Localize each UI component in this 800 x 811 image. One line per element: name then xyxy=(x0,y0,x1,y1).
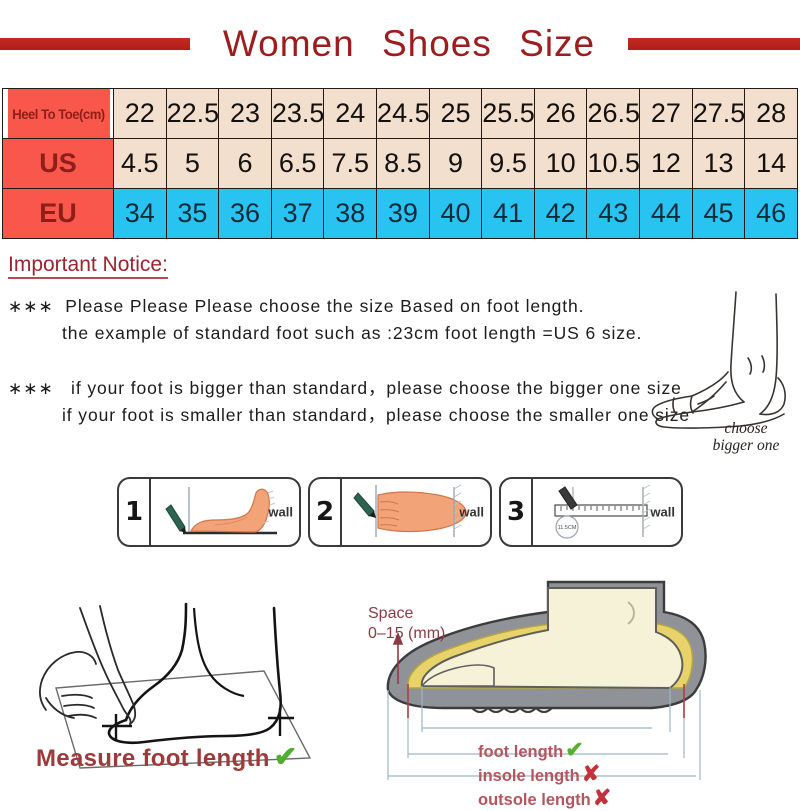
cell-cm-10: 27 xyxy=(640,89,693,139)
size-chart-table: Heel To Toe(cm) 22 22.5 23 23.5 24 24.5 … xyxy=(2,88,798,239)
cell-us-3: 6.5 xyxy=(271,139,324,189)
ruler-reading-label: 11.5CM xyxy=(558,525,577,531)
label-foot-length-text: foot length xyxy=(478,743,563,761)
notice-line-3: if your foot is bigger than standard，ple… xyxy=(71,378,682,398)
important-notice-heading: Important Notice: xyxy=(8,253,168,279)
page-title-row: Women Shoes Size xyxy=(0,18,800,70)
row-label-heel-to-toe: Heel To Toe(cm) xyxy=(6,89,109,139)
measure-foot-caption: Measure foot length✔ xyxy=(36,740,297,773)
row-label-us: US xyxy=(3,139,114,189)
cell-eu-3: 37 xyxy=(271,189,324,239)
title-word-1: Women xyxy=(223,23,355,64)
cell-cm-11: 27.5 xyxy=(692,89,745,139)
cell-us-5: 8.5 xyxy=(377,139,430,189)
cell-us-9: 10.5 xyxy=(587,139,640,189)
cell-cm-2: 23 xyxy=(219,89,272,139)
cell-eu-12: 46 xyxy=(745,189,798,239)
notice-line-1: Please Please Please choose the size Bas… xyxy=(65,296,584,316)
cell-cm-4: 24 xyxy=(324,89,377,139)
cell-eu-7: 41 xyxy=(482,189,535,239)
step-box-1: 1 xyxy=(117,477,301,547)
cell-eu-6: 40 xyxy=(429,189,482,239)
cell-us-4: 7.5 xyxy=(324,139,377,189)
sketch-caption-line-1: choose xyxy=(724,420,767,437)
sketch-caption: choose bigger one xyxy=(686,420,800,454)
notice-paragraph-1: ∗∗∗ Please Please Please choose the size… xyxy=(8,293,642,347)
cell-eu-11: 45 xyxy=(692,189,745,239)
measure-foot-caption-text: Measure foot length xyxy=(36,745,270,772)
page-title: Women Shoes Size xyxy=(190,23,628,65)
cell-eu-5: 39 xyxy=(377,189,430,239)
measure-steps: 1 xyxy=(117,477,683,547)
foot-length-check-icon: ✔ xyxy=(565,737,583,762)
step-number-2: 2 xyxy=(310,479,342,545)
cell-us-8: 10 xyxy=(534,139,587,189)
cell-cm-1: 22.5 xyxy=(166,89,219,139)
space-label-line-1: Space xyxy=(368,605,413,622)
label-outsole-length-text: outsole length xyxy=(478,791,591,809)
cell-eu-1: 35 xyxy=(166,189,219,239)
row-label-eu: EU xyxy=(3,189,114,239)
table-row-us: US 4.5 5 6 6.5 7.5 8.5 9 9.5 10 10.5 12 … xyxy=(3,139,798,189)
cell-us-2: 6 xyxy=(219,139,272,189)
notice-line-4: if your foot is smaller than standard，pl… xyxy=(8,402,690,429)
cell-us-7: 9.5 xyxy=(482,139,535,189)
step-art-2: wall xyxy=(342,479,490,545)
cell-cm-5: 24.5 xyxy=(377,89,430,139)
step-art-3: 11.5CM wall xyxy=(533,479,681,545)
cell-us-11: 13 xyxy=(692,139,745,189)
space-label: Space 0–15 (mm) xyxy=(368,604,445,644)
title-word-2: Shoes xyxy=(382,23,492,64)
green-check-icon: ✔ xyxy=(274,741,298,772)
cell-cm-3: 23.5 xyxy=(271,89,324,139)
cell-us-0: 4.5 xyxy=(114,139,167,189)
notice-bullet-2: ∗∗∗ xyxy=(8,379,54,398)
step-number-1: 1 xyxy=(119,479,151,545)
wall-label-1: wall xyxy=(268,505,293,520)
length-labels: foot length✔ insole length✘ outsole leng… xyxy=(478,739,611,811)
sketch-caption-line-2: bigger one xyxy=(713,437,780,454)
cell-eu-2: 36 xyxy=(219,189,272,239)
table-row-eu: EU 34 35 36 37 38 39 40 41 42 43 44 45 4… xyxy=(3,189,798,239)
cell-cm-12: 28 xyxy=(745,89,798,139)
cell-eu-0: 34 xyxy=(114,189,167,239)
cell-us-6: 9 xyxy=(429,139,482,189)
cell-cm-0: 22 xyxy=(114,89,167,139)
step-box-2: 2 xyxy=(308,477,492,547)
label-insole-length-text: insole length xyxy=(478,767,580,785)
cell-cm-6: 25 xyxy=(429,89,482,139)
notice-bullet-1: ∗∗∗ xyxy=(8,297,54,316)
wall-label-3: wall xyxy=(650,505,675,520)
label-outsole-length: outsole length✘ xyxy=(478,787,611,811)
cell-eu-4: 38 xyxy=(324,189,377,239)
title-word-3: Size xyxy=(519,23,595,64)
notice-paragraph-2: ∗∗∗ if your foot is bigger than standard… xyxy=(8,375,690,429)
insole-length-cross-icon: ✘ xyxy=(582,761,600,786)
cell-cm-9: 26.5 xyxy=(587,89,640,139)
step-number-3: 3 xyxy=(501,479,533,545)
cell-eu-9: 43 xyxy=(587,189,640,239)
cell-us-10: 12 xyxy=(640,139,693,189)
outsole-length-cross-icon: ✘ xyxy=(593,785,611,810)
table-row-cm: Heel To Toe(cm) 22 22.5 23 23.5 24 24.5 … xyxy=(3,89,798,139)
wall-label-2: wall xyxy=(459,505,484,520)
cell-us-12: 14 xyxy=(745,139,798,189)
title-rule-left xyxy=(0,38,190,50)
space-label-line-2: 0–15 (mm) xyxy=(368,625,445,642)
cell-cm-8: 26 xyxy=(534,89,587,139)
cell-eu-8: 42 xyxy=(534,189,587,239)
step-box-3: 3 xyxy=(499,477,683,547)
label-foot-length: foot length✔ xyxy=(478,739,611,763)
cell-eu-10: 44 xyxy=(640,189,693,239)
label-insole-length: insole length✘ xyxy=(478,763,611,787)
step-art-1: wall xyxy=(151,479,299,545)
cell-us-1: 5 xyxy=(166,139,219,189)
cell-cm-7: 25.5 xyxy=(482,89,535,139)
notice-line-2: the example of standard foot such as :23… xyxy=(8,320,642,347)
title-rule-right xyxy=(628,38,800,50)
